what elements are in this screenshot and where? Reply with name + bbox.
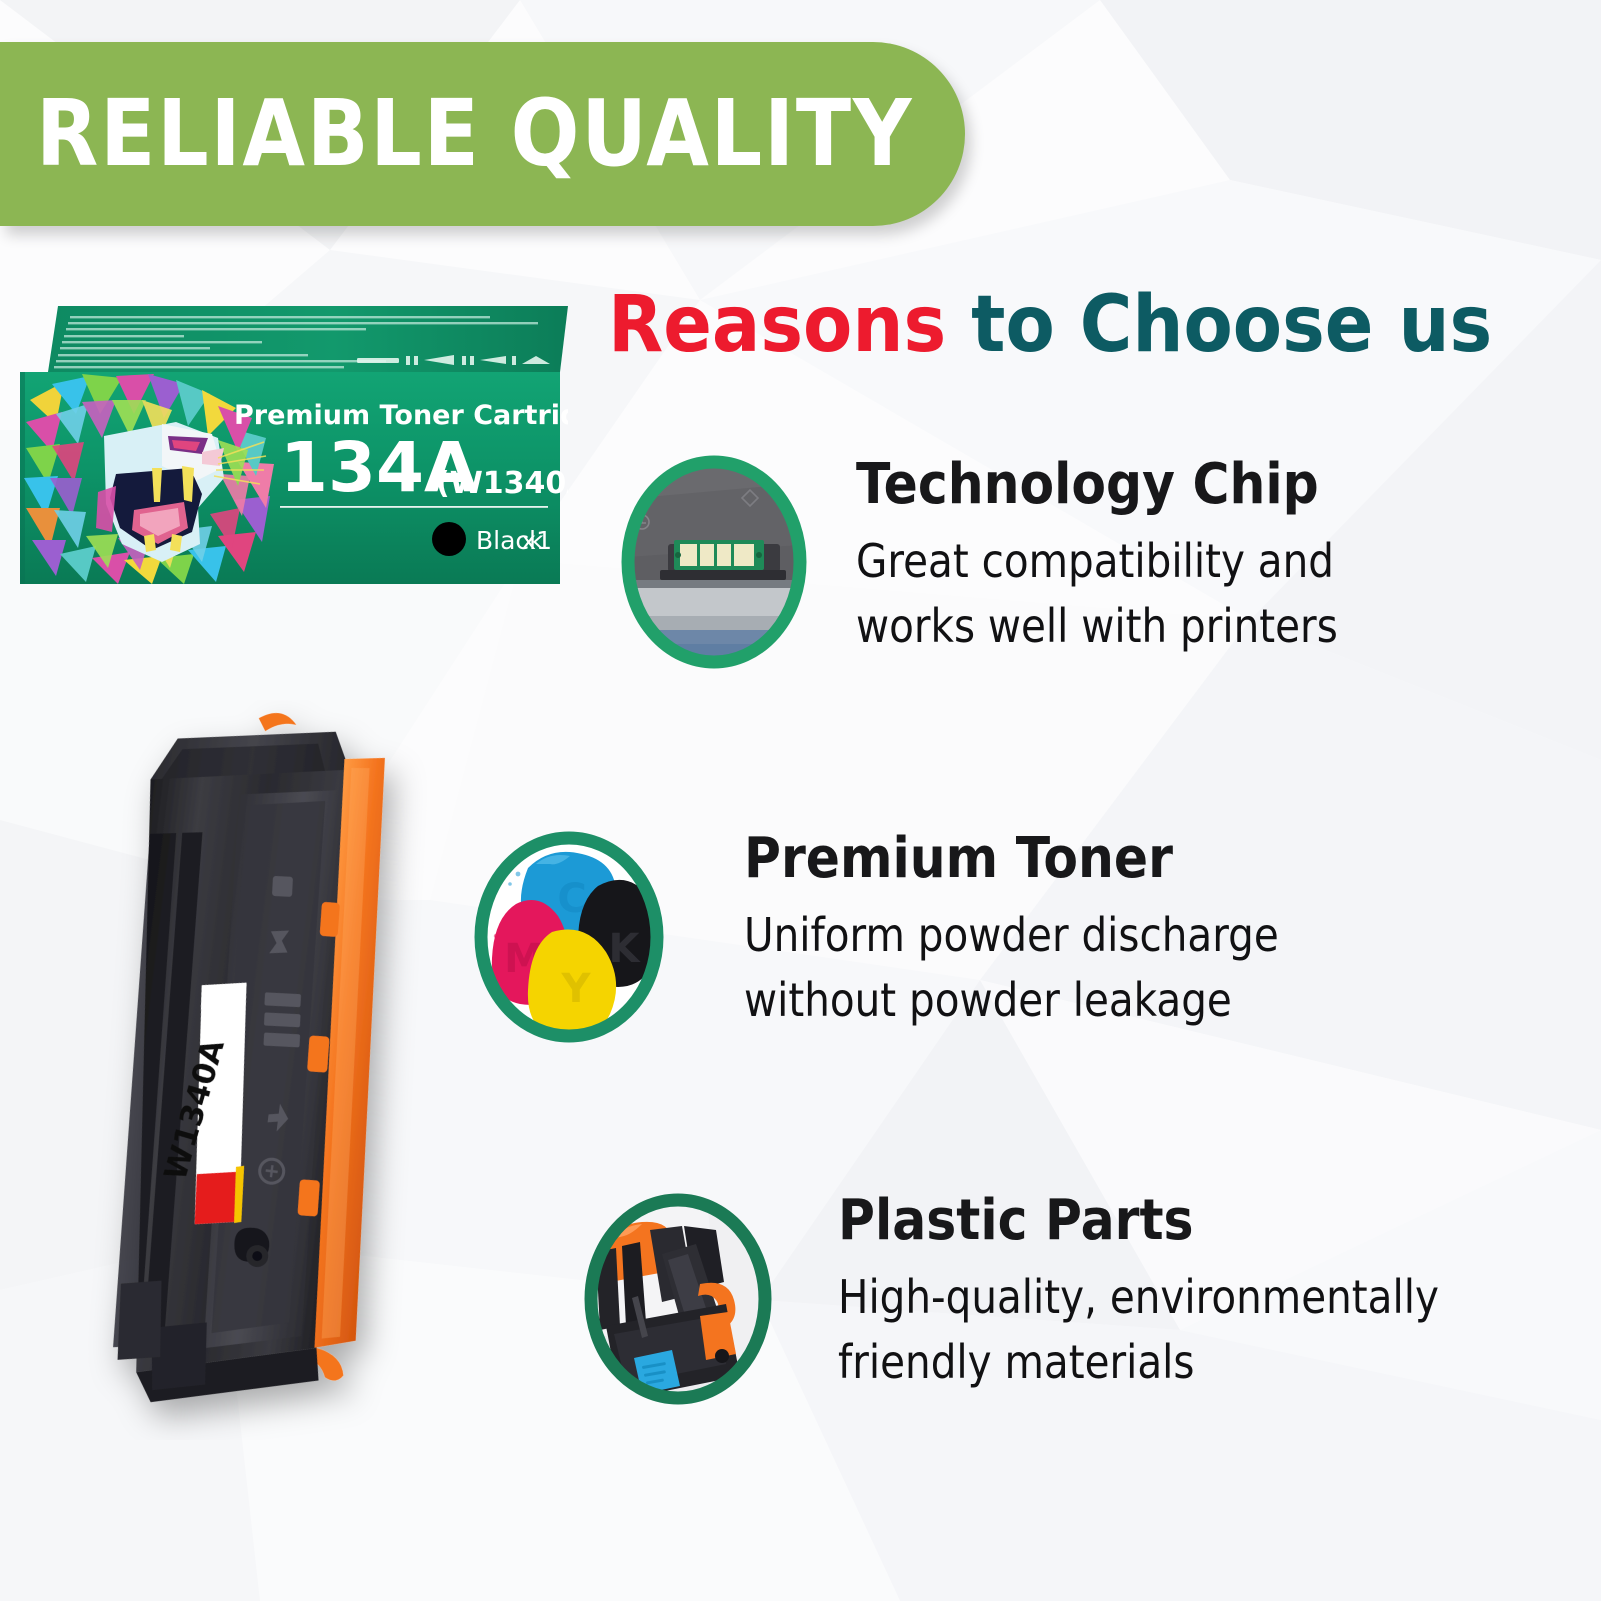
headline-rest: to Choose us: [946, 280, 1492, 370]
banner-label: RELIABLE QUALITY: [36, 88, 913, 180]
toner-cartridge-image: W1340A: [88, 700, 448, 1440]
feature-title: Plastic Parts: [838, 1192, 1453, 1249]
feature-line-1: Uniform powder discharge: [744, 903, 1279, 968]
box-color-dot: [432, 522, 466, 556]
box-underline: [280, 506, 548, 508]
feature-premium-toner: C K M Y: [466, 824, 1352, 1050]
box-quantity: x1: [521, 526, 552, 555]
feature-title: Technology Chip: [856, 456, 1349, 513]
pull-tab: [257, 711, 297, 735]
feature-line-2: works well with printers: [856, 594, 1338, 659]
feature-title: Premium Toner: [744, 830, 1291, 887]
reliable-quality-banner: RELIABLE QUALITY: [0, 42, 965, 226]
box-title: Premium Toner Cartridge: [234, 400, 568, 431]
headline-highlight: Reasons: [608, 280, 946, 370]
feature-line-2: without powder leakage: [744, 968, 1279, 1033]
svg-text:Y: Y: [561, 966, 592, 1012]
feature-line-1: Great compatibility and: [856, 529, 1338, 594]
technology-chip-icon: [614, 448, 814, 676]
product-box-image: Premium Toner Cartridge 134A (W1340A) Bl…: [12, 296, 568, 596]
plastic-parts-icon: [576, 1186, 780, 1412]
feature-line-2: friendly materials: [838, 1330, 1439, 1395]
box-model-suffix: (W1340A): [436, 466, 568, 501]
svg-text:K: K: [609, 926, 642, 972]
page-title: Reasons to Choose us: [608, 286, 1492, 364]
feature-plastic-parts: Plastic Parts High-quality, environmenta…: [576, 1186, 1521, 1412]
cmyk-powder-icon: C K M Y: [466, 824, 672, 1050]
feature-line-1: High-quality, environmentally: [838, 1265, 1439, 1330]
feature-technology-chip: Technology Chip Great compatibility and …: [614, 448, 1404, 676]
